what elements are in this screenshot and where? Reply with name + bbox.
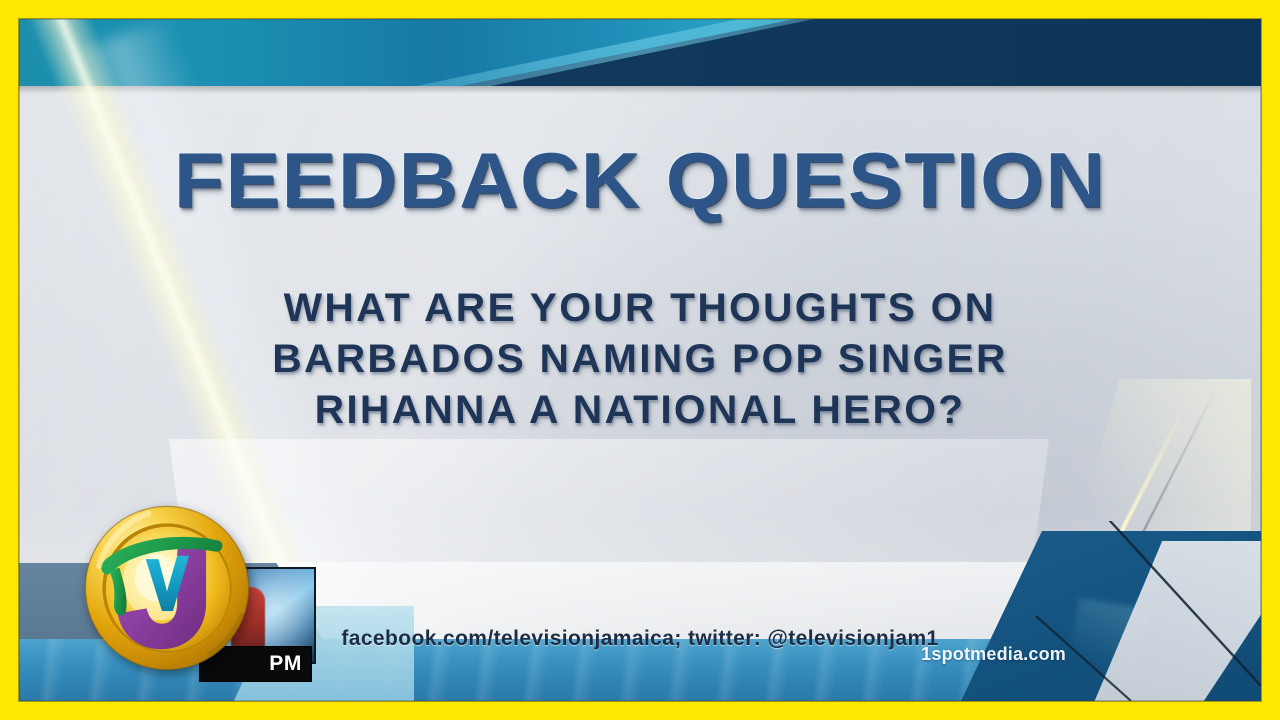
page-title: FEEDBACK QUESTION [19,141,1261,219]
top-color-band [19,19,1261,86]
bottom-right-diagonal-lines [981,521,1261,701]
broadcast-screenshot: FEEDBACK QUESTION WHAT ARE YOUR THOUGHTS… [0,0,1280,720]
time-badge-label: PM [269,652,302,676]
top-band-dropshadow [19,86,1261,94]
broadcast-graphic: FEEDBACK QUESTION WHAT ARE YOUR THOUGHTS… [19,19,1261,701]
question-line-1: WHAT ARE YOUR THOUGHTS ON [19,283,1261,334]
question-line-3: RIHANNA A NATIONAL HERO? [19,385,1261,436]
watermark: 1spotmedia.com [921,644,1066,665]
feedback-question: WHAT ARE YOUR THOUGHTS ON BARBADOS NAMIN… [19,283,1261,436]
question-line-2: BARBADOS NAMING POP SINGER [19,334,1261,385]
tvj-logo [82,503,252,673]
